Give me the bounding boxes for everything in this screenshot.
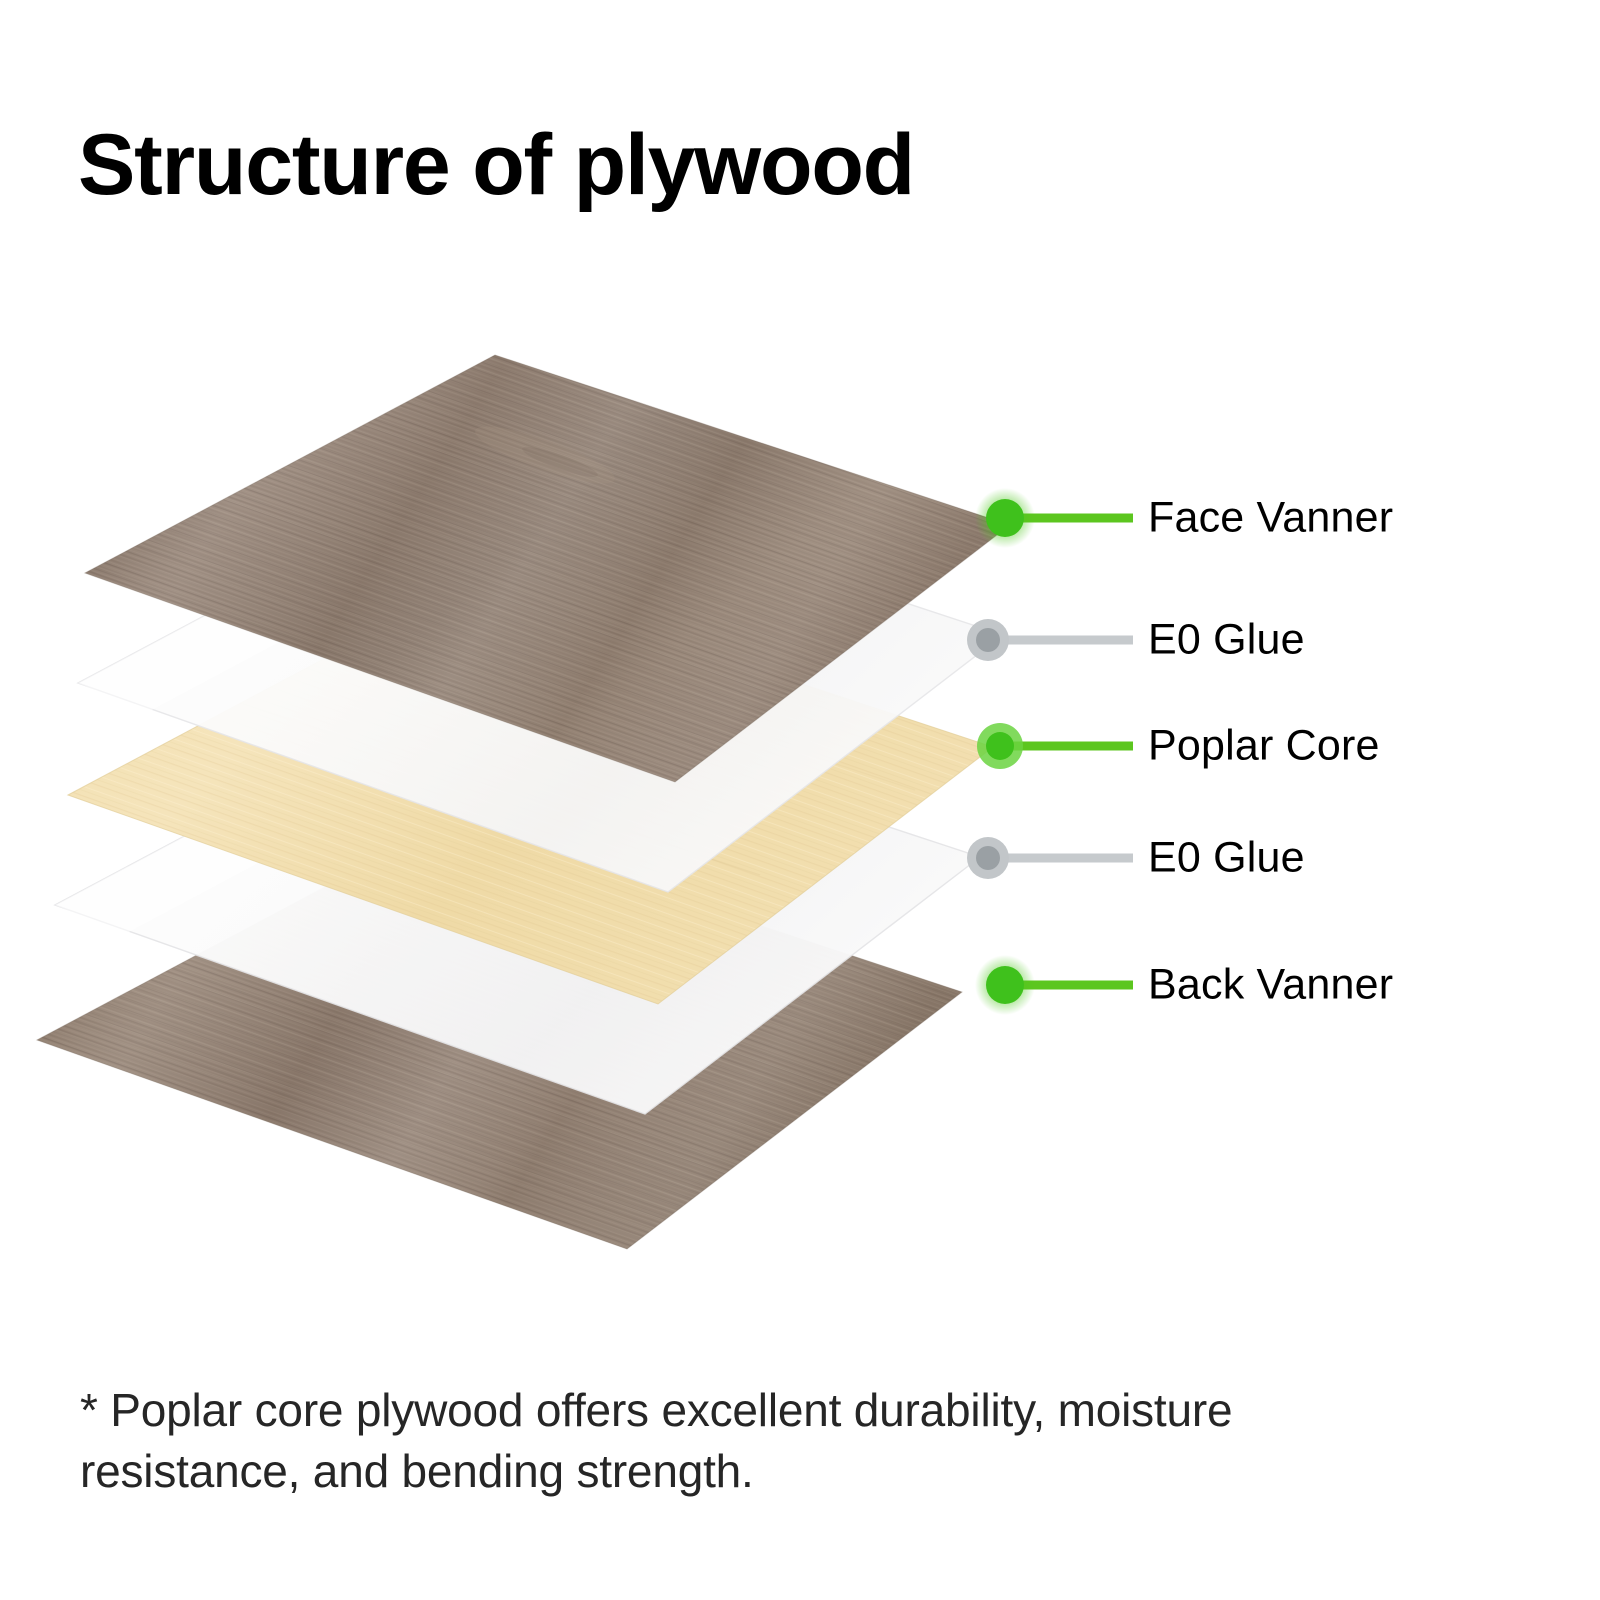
callout-label-glue-bottom: E0 Glue xyxy=(1148,834,1305,883)
callout-marker-poplar-core xyxy=(977,723,1133,769)
plywood-layer-diagram: Face Vanner E0 Glue Poplar Core E0 Glue … xyxy=(0,0,1600,1320)
callout-marker-glue-bottom xyxy=(967,837,1133,879)
infographic-page: Structure of plywood xyxy=(0,0,1600,1600)
callout-marker-glue-top xyxy=(967,619,1133,661)
callout-label-poplar-core: Poplar Core xyxy=(1148,722,1380,771)
callout-marker-face-vanner xyxy=(975,488,1133,548)
callout-label-face-vanner: Face Vanner xyxy=(1148,494,1393,543)
callout-label-glue-top: E0 Glue xyxy=(1148,616,1305,665)
callout-marker-back-vanner xyxy=(975,955,1133,1015)
callout-label-back-vanner: Back Vanner xyxy=(1148,961,1393,1010)
footnote-text: * Poplar core plywood offers excellent d… xyxy=(80,1380,1380,1501)
